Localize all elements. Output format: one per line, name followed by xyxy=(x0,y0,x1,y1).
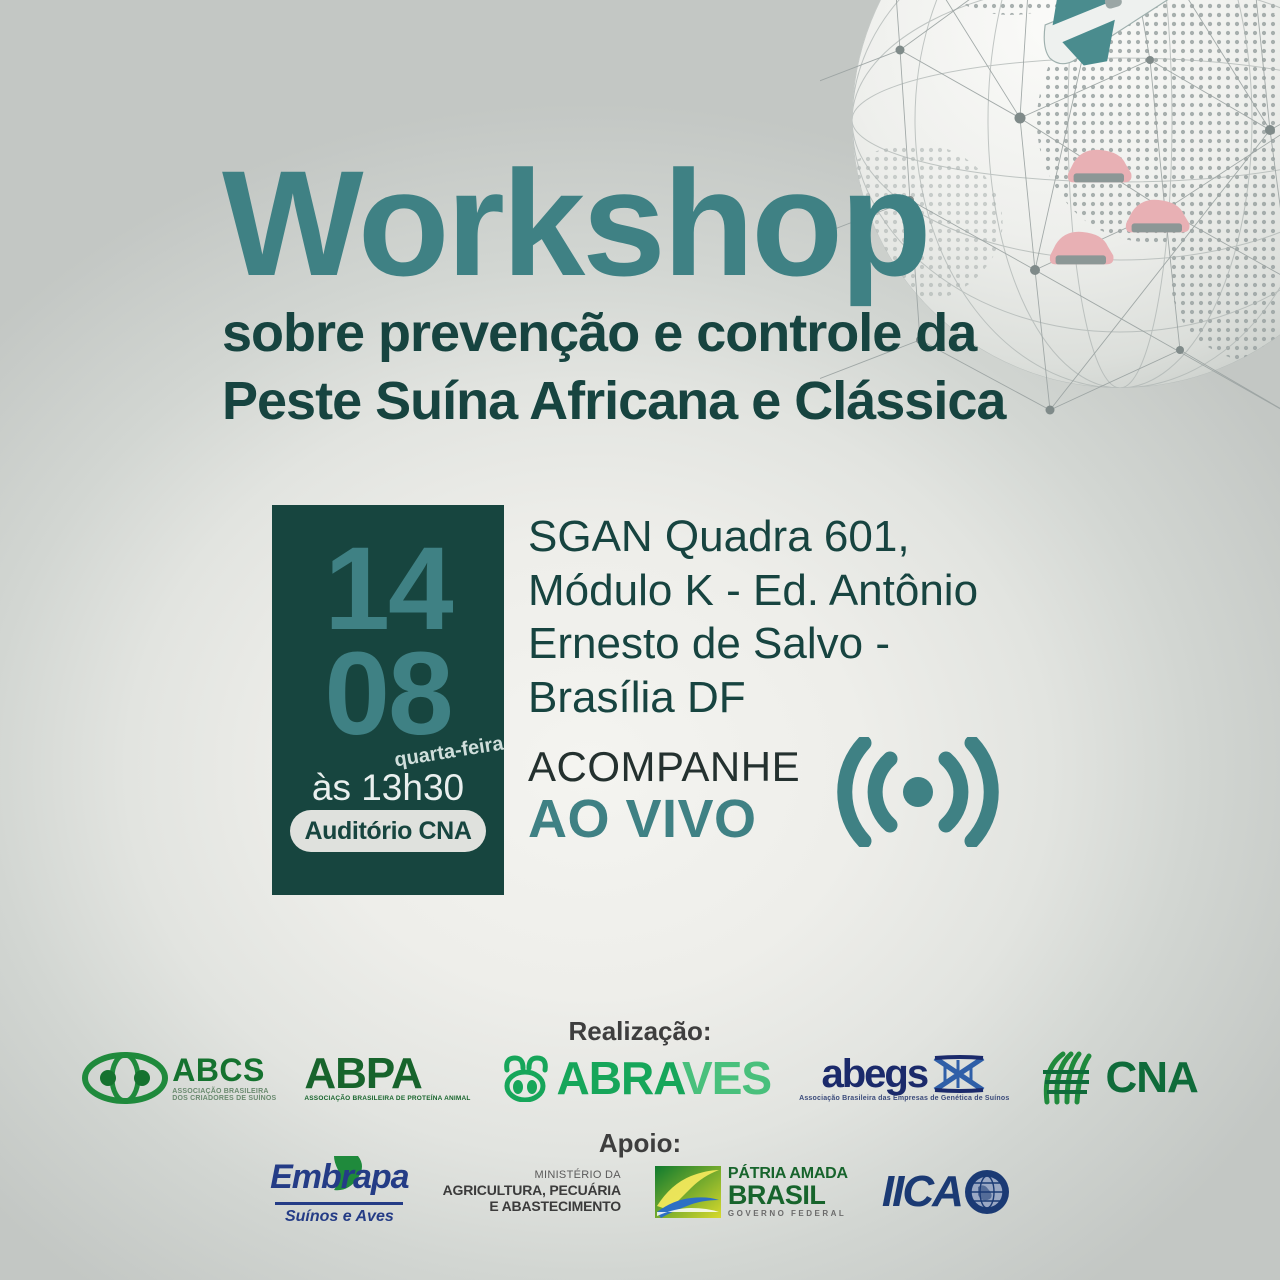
poster-canvas: Workshop sobre prevenção e controle da P… xyxy=(0,0,1280,1280)
logo-abpa-wordmark: ABPA xyxy=(304,1054,421,1094)
logo-abegs-wordmark: abegs xyxy=(821,1054,927,1094)
subtitle-line-1: sobre prevenção e controle da xyxy=(222,303,1082,365)
logo-abcs-wordmark: ABCS xyxy=(172,1054,276,1086)
logo-embrapa-sub: Suínos e Aves xyxy=(285,1208,394,1226)
logo-abcs[interactable]: ABCS ASSOCIAÇÃO BRASILEIRA DOS CRIADORES… xyxy=(82,1051,276,1105)
address-line-3: Ernesto de Salvo - xyxy=(528,617,1058,671)
logo-abegs[interactable]: abegs Associação Brasileira das Empresas… xyxy=(799,1054,1009,1102)
patria-line-3: GOVERNO FEDERAL xyxy=(728,1210,848,1218)
dna-helix-icon xyxy=(929,1054,987,1094)
patria-line-2: BRASIL xyxy=(728,1182,848,1210)
live-broadcast-block: ACOMPANHE AO VIVO xyxy=(528,745,1048,849)
page-title: Workshop xyxy=(222,150,1082,297)
logo-abcs-tagline-1: ASSOCIAÇÃO BRASILEIRA xyxy=(172,1088,276,1095)
date-block: 14 08 quarta-feira às 13h30 Auditório CN… xyxy=(272,505,504,895)
realizacao-logo-row: ABCS ASSOCIAÇÃO BRASILEIRA DOS CRIADORES… xyxy=(0,1050,1280,1106)
pig-snout-ellipse-icon xyxy=(82,1051,168,1105)
address-line-2: Módulo K - Ed. Antônio xyxy=(528,564,1058,618)
logo-abpa-tagline: ASSOCIAÇÃO BRASILEIRA DE PROTEÍNA ANIMAL xyxy=(304,1095,470,1102)
broadcast-icon xyxy=(828,737,1008,852)
logo-abraves-wordmark-light: VES xyxy=(682,1052,771,1104)
wheat-sheaf-icon xyxy=(1037,1050,1099,1106)
brasil-flag-icon xyxy=(655,1166,721,1218)
address-line-1: SGAN Quadra 601, xyxy=(528,510,1058,564)
logo-patria-amada-brasil[interactable]: PÁTRIA AMADA BRASIL GOVERNO FEDERAL xyxy=(655,1166,848,1218)
pig-face-icon xyxy=(499,1054,551,1102)
logo-abpa[interactable]: ABPA ASSOCIAÇÃO BRASILEIRA DE PROTEÍNA A… xyxy=(304,1054,470,1103)
subtitle-line-2: Peste Suína Africana e Clássica xyxy=(222,371,1082,433)
ministerio-line-2: AGRICULTURA, PECUÁRIA xyxy=(443,1182,621,1199)
date-month: 08 xyxy=(272,640,504,745)
globe-seal-icon xyxy=(964,1169,1010,1215)
apoio-title: Apoio: xyxy=(0,1128,1280,1159)
logo-cna[interactable]: CNA xyxy=(1037,1050,1197,1106)
apoio-logo-row: Embrapa Suínos e Aves MINISTÉRIO DA AGRI… xyxy=(0,1158,1280,1226)
logo-abraves-wordmark-dark: ABRA xyxy=(557,1052,682,1104)
venue-badge: Auditório CNA xyxy=(290,810,486,852)
date-day: 14 xyxy=(272,505,504,640)
poster-headline: Workshop sobre prevenção e controle da P… xyxy=(222,150,1082,432)
logo-iica[interactable]: IICA xyxy=(882,1167,1010,1217)
event-time: às 13h30 xyxy=(272,767,504,809)
logo-abcs-tagline-2: DOS CRIADORES DE SUÍNOS xyxy=(172,1095,276,1102)
logo-abraves[interactable]: ABRAVES xyxy=(499,1054,772,1102)
logo-iica-wordmark: IICA xyxy=(882,1167,962,1217)
logo-abegs-tagline: Associação Brasileira das Empresas de Ge… xyxy=(799,1095,1009,1102)
address-line-4: Brasília DF xyxy=(528,671,1058,725)
venue-address: SGAN Quadra 601, Módulo K - Ed. Antônio … xyxy=(528,510,1058,725)
realizacao-title: Realização: xyxy=(0,1016,1280,1047)
logo-embrapa[interactable]: Embrapa Suínos e Aves xyxy=(270,1158,409,1226)
logo-ministerio-agricultura[interactable]: MINISTÉRIO DA AGRICULTURA, PECUÁRIA E AB… xyxy=(443,1169,621,1215)
logo-cna-wordmark: CNA xyxy=(1105,1053,1197,1103)
ministerio-line-1: MINISTÉRIO DA xyxy=(535,1169,621,1182)
logo-embrapa-wordmark: Embrapa xyxy=(270,1158,409,1196)
ministerio-line-3: E ABASTECIMENTO xyxy=(489,1198,621,1215)
